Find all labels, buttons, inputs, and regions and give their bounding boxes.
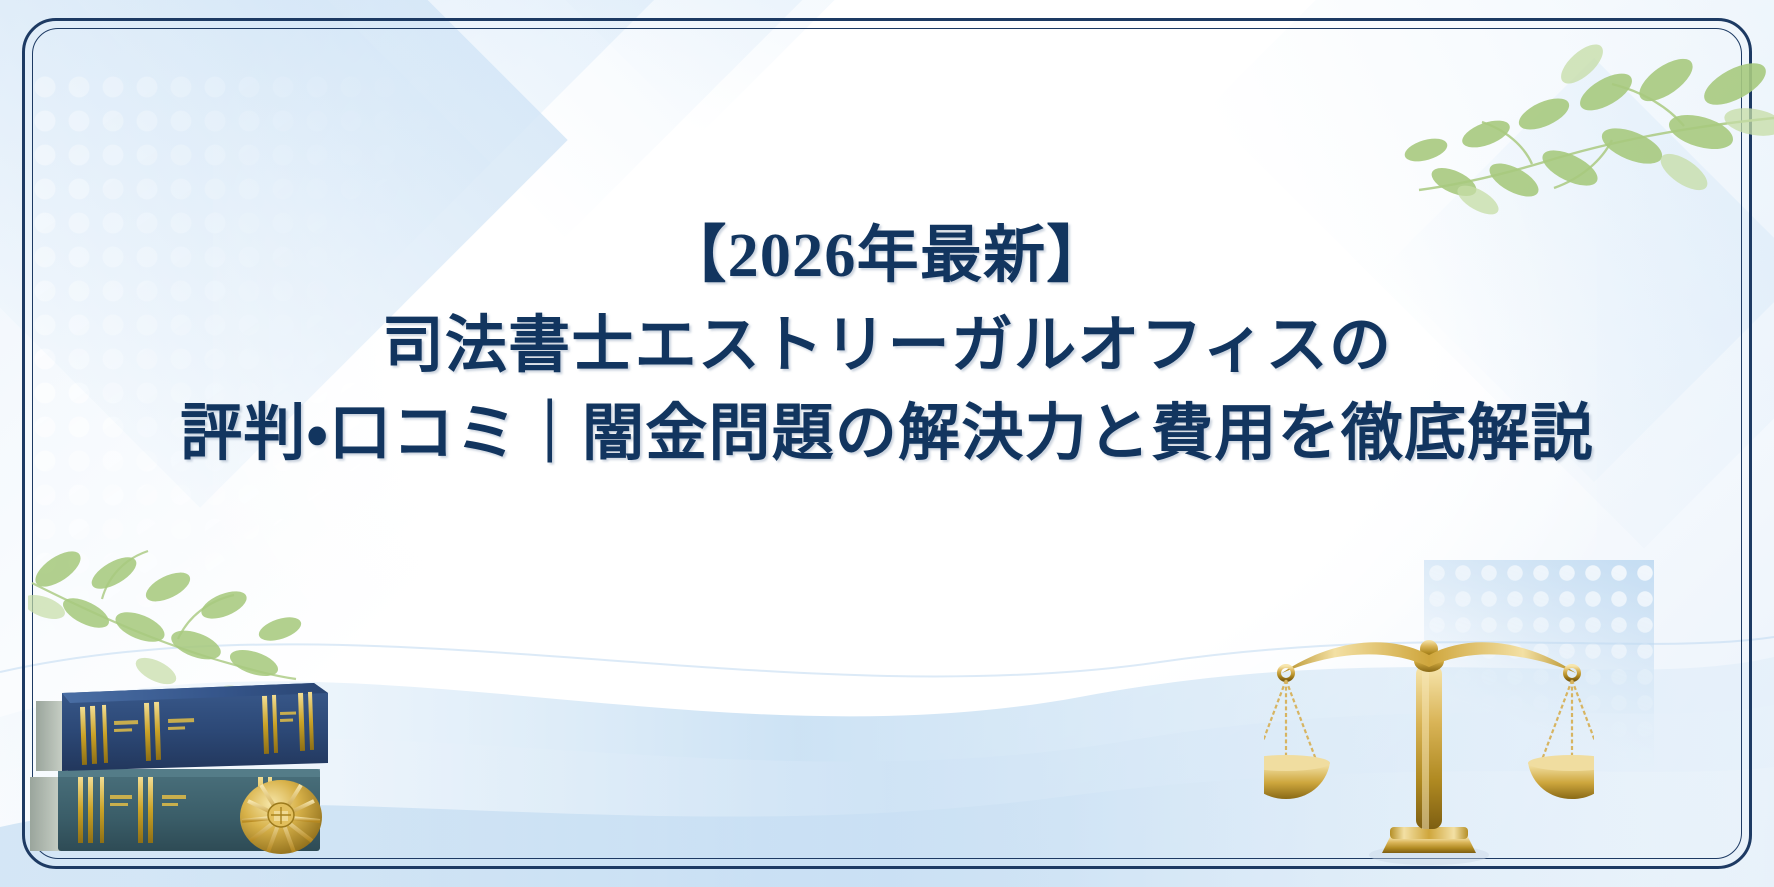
title-line-year-badge: 【2026年最新】 (0, 225, 1774, 287)
leaf-branch-icon-top-right (1214, 22, 1774, 242)
scales-of-justice-icon (1264, 569, 1594, 869)
page-title: 【2026年最新】 司法書士エストリーガルオフィスの 評判・口コミ｜闇金問題の解… (0, 225, 1774, 465)
thumbnail-canvas: 【2026年最新】 司法書士エストリーガルオフィスの 評判・口コミ｜闇金問題の解… (0, 0, 1774, 887)
title-line-office-name: 司法書士エストリーガルオフィスの (0, 315, 1774, 377)
gold-medallion-icon (238, 773, 324, 855)
title-line-subtitle: 評判・口コミ｜闇金問題の解決力と費用を徹底解説 (0, 403, 1774, 465)
